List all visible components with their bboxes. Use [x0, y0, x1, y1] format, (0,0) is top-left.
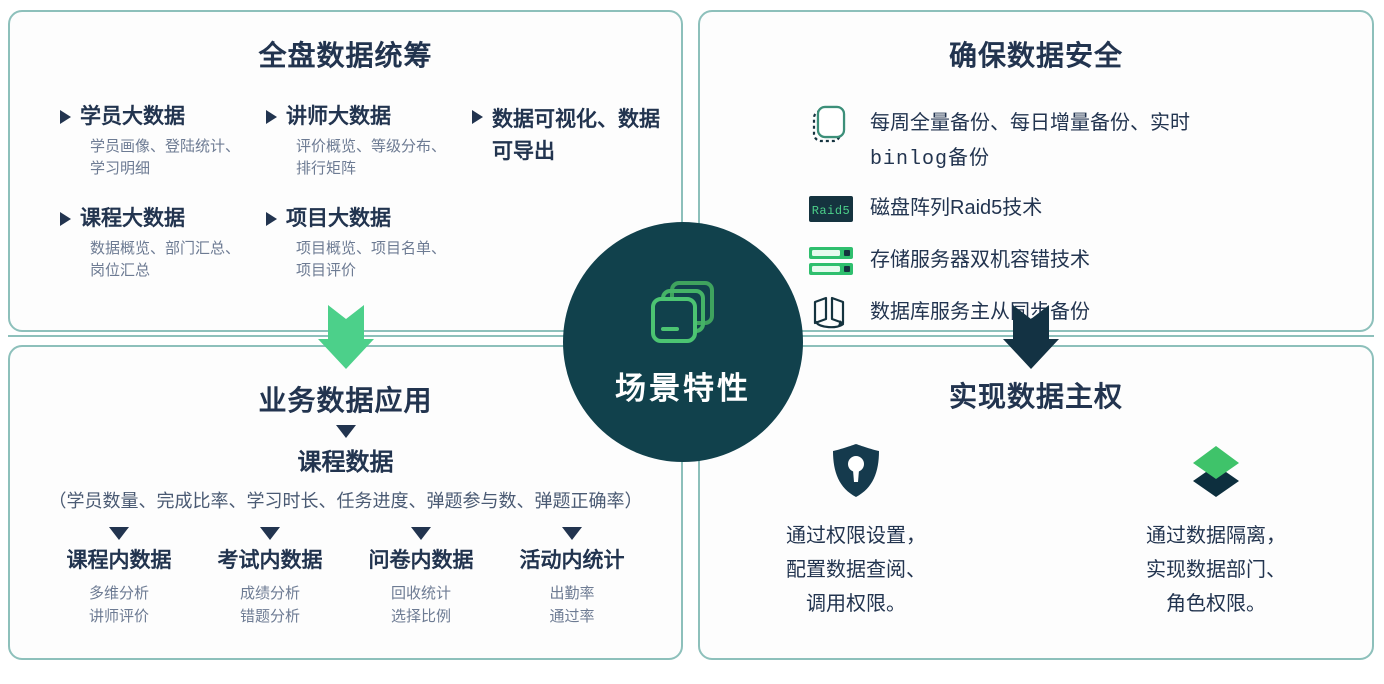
- sovereignty-columns: 通过权限设置， 配置数据查阅、 调用权限。 通过数据隔离， 实现数据部门、 角色…: [700, 441, 1372, 621]
- business-survey-line1: 回收统计: [391, 585, 451, 602]
- triangle-right-icon: [60, 212, 71, 226]
- bullet-sub-instructor: 评价概览、等级分布、排行矩阵: [296, 136, 446, 180]
- business-column-sub-exam: 成绩分析 错题分析: [195, 582, 345, 629]
- triangle-down-icon: [109, 527, 129, 540]
- business-column-sub-activity: 出勤率 通过率: [497, 582, 647, 629]
- stacked-squares-icon: [644, 277, 722, 349]
- business-column-activity[interactable]: 活动内统计 出勤率 通过率: [497, 527, 647, 629]
- security-item-backup[interactable]: 每周全量备份、每日增量备份、实时 binlog备份: [808, 104, 1353, 177]
- server-rack-icon: [808, 241, 854, 281]
- security-backup-line1: 每周全量备份、每日增量备份、实时: [870, 112, 1190, 134]
- down-arrow-green: [318, 305, 374, 369]
- bullet-sub-project: 项目概览、项目名单、项目评价: [296, 238, 446, 282]
- business-course-line1: 多维分析: [89, 585, 149, 602]
- dashed-rounded-square-icon: [808, 104, 854, 144]
- bullet-group-instructor[interactable]: 讲师大数据 评价概览、等级分布、排行矩阵: [266, 104, 454, 180]
- business-column-title-exam: 考试内数据: [195, 544, 345, 574]
- bullet-sub-student: 学员画像、登陆统计、学习明细: [90, 136, 240, 180]
- sovereignty-isolation-line3: 角色权限。: [1166, 593, 1266, 615]
- business-column-title-course: 课程内数据: [44, 544, 194, 574]
- security-item-list: 每周全量备份、每日增量备份、实时 binlog备份 Raid5 磁盘阵列Raid…: [808, 104, 1353, 345]
- bullet-label-instructor: 讲师大数据: [286, 104, 391, 130]
- bullet-group-project[interactable]: 项目大数据 项目概览、项目名单、项目评价: [266, 206, 454, 282]
- layered-diamond-icon-wrap: [1111, 441, 1321, 503]
- layered-diamond-icon: [1183, 443, 1249, 501]
- bullet-group-visualization[interactable]: 数据可视化、数据可导出: [472, 104, 660, 167]
- triangle-right-icon: [266, 110, 277, 124]
- security-item-db-sync[interactable]: 数据库服务主从同步备份: [808, 293, 1353, 333]
- triangle-right-icon: [266, 212, 277, 226]
- bullet-group-student[interactable]: 学员大数据 学员画像、登陆统计、学习明细: [60, 104, 248, 180]
- business-column-title-survey: 问卷内数据: [346, 544, 496, 574]
- triangle-down-icon: [562, 527, 582, 540]
- sovereignty-column-isolation[interactable]: 通过数据隔离， 实现数据部门、 角色权限。: [1111, 441, 1321, 621]
- bullet-group-course[interactable]: 课程大数据 数据概览、部门汇总、岗位汇总: [60, 206, 248, 282]
- business-data-columns: 课程内数据 多维分析 讲师评价 考试内数据 成绩分析 错题分析 问卷内数据 回收…: [44, 527, 647, 629]
- panel-data-security: 确保数据安全 每周全量备份、每日增量备份、实时 binlog备份: [698, 10, 1374, 332]
- shield-lock-icon-wrap: [751, 441, 961, 503]
- business-paren-line: （学员数量、完成比率、学习时长、任务进度、弹题参与数、弹题正确率）: [10, 487, 681, 513]
- security-backup-line2: binlog备份: [870, 148, 990, 171]
- svg-text:Raid5: Raid5: [812, 204, 851, 218]
- sovereignty-permission-line2: 配置数据查阅、: [786, 559, 926, 581]
- bullet-label-course: 课程大数据: [80, 206, 185, 232]
- shield-lock-icon: [829, 442, 883, 502]
- security-item-raid5[interactable]: Raid5 磁盘阵列Raid5技术: [808, 189, 1353, 229]
- triangle-down-icon: [411, 527, 431, 540]
- business-exam-line2: 错题分析: [240, 608, 300, 625]
- security-item-server[interactable]: 存储服务器双机容错技术: [808, 241, 1353, 281]
- overall-data-column-1: 学员大数据 学员画像、登陆统计、学习明细 课程大数据 数据概览、部门汇总、岗位汇…: [60, 104, 248, 308]
- bullet-head-instructor: 讲师大数据: [266, 104, 454, 130]
- triangle-down-icon: [260, 527, 280, 540]
- triangle-right-icon: [472, 110, 483, 124]
- security-item-raid5-text: 磁盘阵列Raid5技术: [870, 189, 1042, 226]
- bullet-head-visualization: 数据可视化、数据可导出: [472, 104, 660, 167]
- database-sync-icon: [808, 293, 854, 333]
- bullet-label-student: 学员大数据: [80, 104, 185, 130]
- security-item-server-text: 存储服务器双机容错技术: [870, 241, 1090, 278]
- business-exam-line1: 成绩分析: [240, 585, 300, 602]
- sovereignty-permission-line3: 调用权限。: [806, 593, 906, 615]
- panel-title-overall-data: 全盘数据统筹: [10, 34, 681, 74]
- business-course-line2: 讲师评价: [89, 608, 149, 625]
- business-column-survey[interactable]: 问卷内数据 回收统计 选择比例: [346, 527, 496, 629]
- business-column-sub-survey: 回收统计 选择比例: [346, 582, 496, 629]
- sovereignty-text-isolation: 通过数据隔离， 实现数据部门、 角色权限。: [1111, 519, 1321, 621]
- bullet-head-student: 学员大数据: [60, 104, 248, 130]
- infographic-canvas: 全盘数据统筹 学员大数据 学员画像、登陆统计、学习明细 课程大数据 数据概览、部…: [0, 0, 1384, 684]
- business-column-course[interactable]: 课程内数据 多维分析 讲师评价: [44, 527, 194, 629]
- sovereignty-permission-line1: 通过权限设置，: [786, 525, 926, 547]
- business-column-exam[interactable]: 考试内数据 成绩分析 错题分析: [195, 527, 345, 629]
- bullet-sub-course: 数据概览、部门汇总、岗位汇总: [90, 238, 240, 282]
- business-activity-line1: 出勤率: [549, 585, 594, 602]
- center-badge-label: 场景特性: [615, 363, 751, 408]
- bullet-head-project: 项目大数据: [266, 206, 454, 232]
- raid5-badge-icon: Raid5: [808, 189, 854, 229]
- business-column-sub-course: 多维分析 讲师评价: [44, 582, 194, 629]
- security-item-backup-text: 每周全量备份、每日增量备份、实时 binlog备份: [870, 104, 1190, 177]
- sovereignty-isolation-line2: 实现数据部门、: [1146, 559, 1286, 581]
- triangle-down-icon: [336, 425, 356, 438]
- bullet-head-course: 课程大数据: [60, 206, 248, 232]
- overall-data-columns: 学员大数据 学员画像、登陆统计、学习明细 课程大数据 数据概览、部门汇总、岗位汇…: [60, 104, 660, 308]
- sovereignty-column-permission[interactable]: 通过权限设置， 配置数据查阅、 调用权限。: [751, 441, 961, 621]
- down-arrow-dark: [1003, 305, 1059, 369]
- center-badge[interactable]: 场景特性: [563, 222, 803, 462]
- bullet-label-visualization: 数据可视化、数据可导出: [492, 104, 660, 167]
- panel-title-data-sovereignty: 实现数据主权: [700, 375, 1372, 415]
- sovereignty-isolation-line1: 通过数据隔离，: [1146, 525, 1286, 547]
- panel-data-sovereignty: 实现数据主权 通过权限设置， 配置数据查阅、 调用权限。: [698, 345, 1374, 660]
- business-sub-title: 课程数据: [10, 442, 681, 477]
- business-survey-line2: 选择比例: [391, 608, 451, 625]
- overall-data-column-2: 讲师大数据 评价概览、等级分布、排行矩阵 项目大数据 项目概览、项目名单、项目评…: [266, 104, 454, 308]
- business-activity-line2: 通过率: [549, 608, 594, 625]
- bullet-label-project: 项目大数据: [286, 206, 391, 232]
- triangle-right-icon: [60, 110, 71, 124]
- sovereignty-text-permission: 通过权限设置， 配置数据查阅、 调用权限。: [751, 519, 961, 621]
- business-column-title-activity: 活动内统计: [497, 544, 647, 574]
- panel-title-data-security: 确保数据安全: [700, 34, 1372, 74]
